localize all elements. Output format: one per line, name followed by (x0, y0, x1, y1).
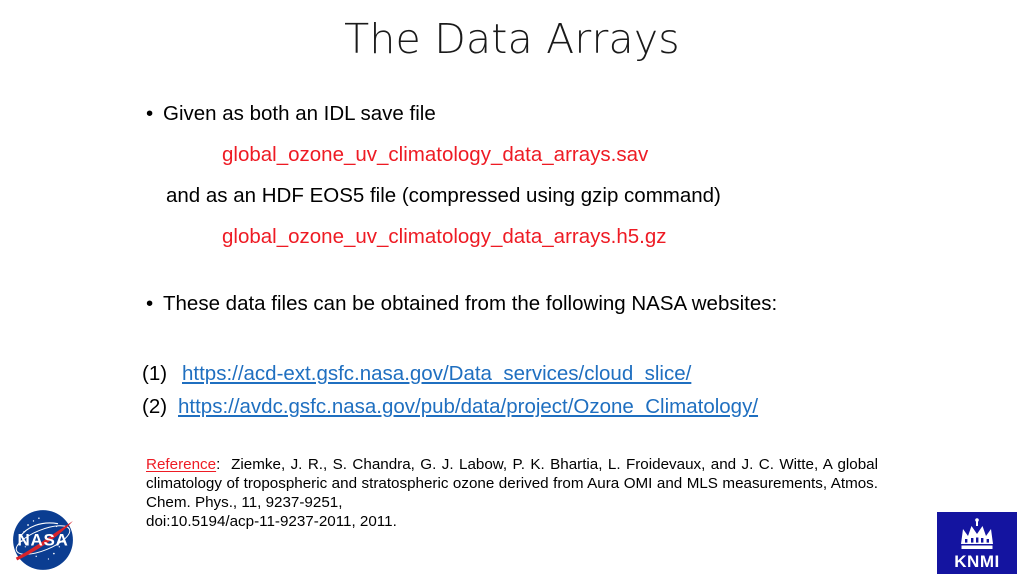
reference-label: Reference (146, 456, 216, 473)
link-row-1: (1) https://acd-ext.gsfc.nasa.gov/Data_s… (142, 357, 902, 390)
link-number-1: (1) (142, 357, 182, 390)
slide-canvas: The Data Arrays • Given as both an IDL s… (0, 0, 1024, 576)
link-number-2: (2) (142, 390, 178, 423)
bullet-dot-icon: • (146, 288, 153, 319)
filename-h5gz: global_ozone_uv_climatology_data_arrays.… (142, 221, 902, 252)
svg-text:KNMI: KNMI (954, 552, 999, 571)
bullet-item-websites: • These data files can be obtained from … (142, 288, 902, 319)
page-title: The Data Arrays (0, 14, 1024, 64)
svg-text:NASA: NASA (18, 530, 69, 549)
filename-sav: global_ozone_uv_climatology_data_arrays.… (142, 139, 902, 170)
reference-doi: doi:10.5194/acp-11-9237-2011, 2011. (146, 512, 878, 531)
bullet-text-websites: These data files can be obtained from th… (163, 292, 777, 315)
slide-body: • Given as both an IDL save file global_… (142, 98, 902, 423)
knmi-logo-icon: KNMI (937, 512, 1017, 574)
spacer (142, 319, 902, 357)
link-cloud-slice[interactable]: https://acd-ext.gsfc.nasa.gov/Data_servi… (182, 357, 691, 390)
spacer (142, 129, 902, 139)
bullet-text-hdf: and as an HDF EOS5 file (compressed usin… (142, 180, 902, 211)
link-ozone-climatology[interactable]: https://avdc.gsfc.nasa.gov/pub/data/proj… (178, 390, 758, 423)
bullet-item-idl: • Given as both an IDL save file (142, 98, 902, 129)
spacer (142, 211, 902, 221)
link-row-2: (2) https://avdc.gsfc.nasa.gov/pub/data/… (142, 390, 902, 423)
nasa-logo: NASA (5, 506, 81, 574)
spacer (142, 252, 902, 288)
spacer (142, 170, 902, 180)
reference-citation: Ziemke, J. R., S. Chandra, G. J. Labow, … (146, 456, 878, 511)
reference-separator: : (216, 456, 220, 473)
nasa-logo-icon: NASA (5, 506, 81, 574)
knmi-logo: KNMI (937, 512, 1017, 574)
bullet-text-idl: Given as both an IDL save file (163, 102, 436, 125)
reference-block: Reference: Ziemke, J. R., S. Chandra, G.… (146, 455, 878, 531)
bullet-dot-icon: • (146, 98, 153, 129)
